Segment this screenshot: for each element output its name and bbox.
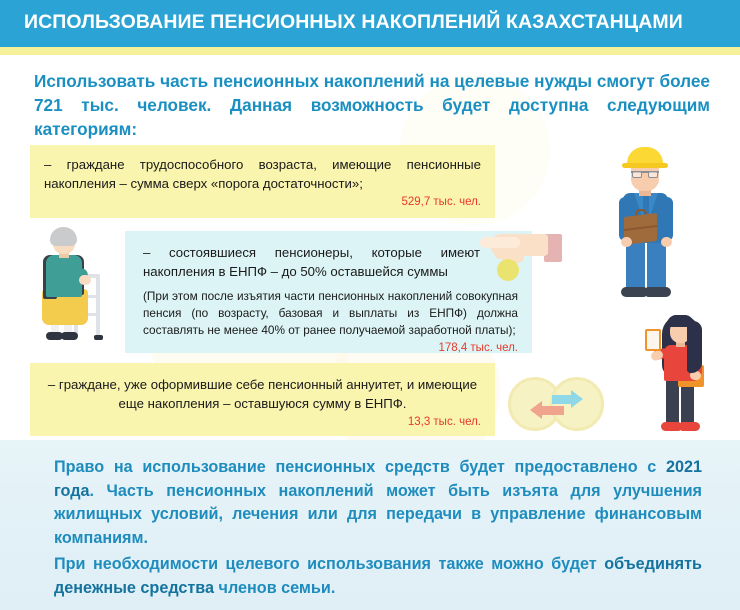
elderly-woman-illustration <box>28 227 108 345</box>
glasses-lens-right <box>648 171 658 178</box>
young-woman-illustration <box>645 313 715 440</box>
infographic-page: ИСПОЛЬЗОВАНИЕ ПЕНСИОННЫХ НАКОПЛЕНИЙ КАЗА… <box>0 0 740 610</box>
bottom-summary-panel: Право на использование пенсионных средст… <box>0 440 740 610</box>
glasses-lens-left <box>632 171 642 178</box>
card-main-text: – состоявшиеся пенсионеры, которые имеют… <box>143 243 518 281</box>
bottom-p1-part-a: Право на использование пенсионных средст… <box>54 458 666 476</box>
arrow-right-head <box>571 390 583 408</box>
businessman-illustration <box>608 147 686 302</box>
hand-right <box>661 237 672 247</box>
hand-coin-illustration <box>470 232 565 287</box>
walker-leg-right <box>96 274 100 338</box>
bottom-p1-part-b: . Часть пенсионных накоплений может быть… <box>54 482 702 547</box>
page-title: ИСПОЛЬЗОВАНИЕ ПЕНСИОННЫХ НАКОПЛЕНИЙ КАЗА… <box>24 11 724 34</box>
trousers-right <box>647 240 666 290</box>
hand-left <box>621 237 632 247</box>
trousers-left <box>626 240 645 290</box>
hair-side <box>687 321 702 373</box>
shoe-right <box>645 287 671 297</box>
arrow-left-body <box>542 406 564 415</box>
arm-right <box>660 197 673 241</box>
header-accent-strip <box>0 47 740 55</box>
bottom-p2-part-b: членов семьи. <box>214 579 335 597</box>
trousers-left <box>666 379 679 425</box>
card-count-badge: 529,7 тыс. чел. <box>44 196 481 208</box>
face <box>631 165 659 191</box>
category-card-working-age: – граждане трудоспособного возраста, име… <box>30 145 495 218</box>
exchange-arrows-icon <box>508 373 606 433</box>
walker-foot <box>94 335 103 340</box>
sneaker-right <box>680 422 700 431</box>
card-count-badge: 13,3 тыс. чел. <box>44 416 481 428</box>
gray-hair <box>50 227 77 246</box>
shoe-left <box>621 287 647 297</box>
bottom-paragraph-1: Право на использование пенсионных средст… <box>54 456 702 550</box>
sneaker-left <box>661 422 681 431</box>
bottom-paragraph-2: При необходимости целевого использования… <box>54 553 702 600</box>
hard-hat-brim <box>622 163 668 168</box>
category-card-annuity: – граждане, уже оформившие себе пенсионн… <box>30 363 495 436</box>
tablet-device <box>645 329 661 351</box>
coin-icon <box>497 259 519 281</box>
card-count-badge: 178,4 тыс. чел. <box>143 342 518 354</box>
arrow-left-head <box>530 401 542 419</box>
card-main-text: – граждане трудоспособного возраста, име… <box>44 155 481 193</box>
hand <box>79 275 91 285</box>
intro-paragraph: Использовать часть пенсионных накоплений… <box>34 69 710 141</box>
bottom-p2-part-a: При необходимости целевого использования… <box>54 555 604 573</box>
shoe-right <box>61 332 78 340</box>
main-content-area: Использовать часть пенсионных накоплений… <box>0 55 740 440</box>
fingers <box>480 237 520 248</box>
card-main-text: – граждане, уже оформившие себе пенсионн… <box>44 375 481 413</box>
card-sub-text: (При этом после изъятия части пенсионных… <box>143 288 518 339</box>
